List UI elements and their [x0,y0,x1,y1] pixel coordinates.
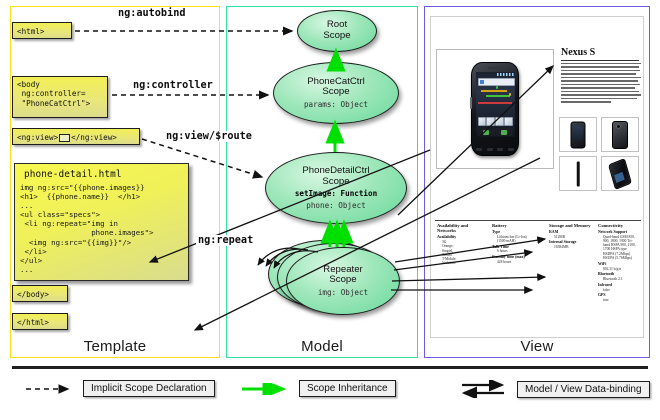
phone-side-button [470,97,472,109]
scope-phonedetailctrl: PhoneDetailCtrlScope setImage: Function … [265,152,407,224]
edge-label-controller: ng:controller [131,80,215,91]
spec-header: Battery [492,223,544,228]
spec-value: (1500 mAH) [492,239,544,243]
legend-label-databinding: Model / View Data-binding [517,381,650,398]
thumbnail-phone-front[interactable] [559,117,597,152]
spec-value: Bluetooth 2.1 [598,277,642,281]
spec-value: 16384MB [549,245,595,249]
ngview-open-tag: <ng:view> [17,133,58,142]
spec-value: 802.11 b/g/n [598,267,642,271]
legend-dashed-arrow-icon [24,383,76,395]
thumbnail-phone-back[interactable] [601,117,639,152]
legend-label-implicit: Implicit Scope Declaration [83,380,215,397]
scope-phonecatctrl: PhoneCatCtrlScope params: Object [273,62,399,124]
scope-repeater-label: RepeaterScope [323,265,362,287]
scope-root-label: RootScope [323,20,350,42]
column-label-model: Model [226,338,418,355]
rendered-view-page: Nexus S Availability and Networks Availa… [430,16,644,338]
edge-label-autobind: ng:autobind [116,8,187,19]
phone-dock-tray [478,128,513,136]
phone-search-widget [478,78,515,86]
phone-hardware-keys [476,148,514,152]
legend-item-implicit: Implicit Scope Declaration [24,380,215,397]
spec-value: 6 hours [492,249,544,253]
view-thumbnail-grid [559,117,641,193]
phone-device-image [471,62,519,156]
legend-divider [12,366,648,369]
note-code: img ng:src="{{phone.images}} <h1> {{phon… [20,183,183,274]
phone-graphic-line-1 [481,90,507,92]
edge-label-repeat: ng:repeat [196,235,255,246]
phone-status-bar [497,73,514,76]
scope-repeater: RepeaterScope img: Object [286,247,400,315]
spec-group-battery: Battery Type Lithium Ion (Li-Ion) (1500 … [492,223,544,264]
legend-double-arrow-icon [458,380,510,398]
code-box-html-close: </html> [12,313,68,330]
sticky-note-phone-detail: phone-detail.html img ng:src="{{phone.im… [14,163,189,281]
spec-group-availability: Availability and Networks Availability 3… [437,223,487,266]
legend-green-arrow-icon [240,383,292,395]
view-title-rule [561,60,639,61]
spec-value: false [598,288,642,292]
scope-phonecatctrl-prop: params: Object [304,100,368,109]
spec-value: 428 hours [492,260,544,264]
scope-phonedetailctrl-prop-phone: phone: Object [306,201,365,210]
spec-value: 512MB [549,235,595,239]
phone-graphic-line-2 [486,95,510,97]
note-title: phone-detail.html [24,169,183,180]
phone-graphic-line-3 [478,102,512,104]
legend-item-inheritance: Scope Inheritance [240,380,396,397]
column-label-template: Template [10,338,220,355]
column-label-view: View [424,338,650,355]
phone-dot-1 [496,86,499,89]
legend-label-inheritance: Scope Inheritance [299,380,396,397]
diagram-canvas: <html> <body ng:controller= "PhoneCatCtr… [0,0,660,420]
edge-label-route: ng:view/$route [164,131,254,142]
spec-group-connectivity: Connectivity Network Support Quad-band G… [598,223,642,302]
spec-header: Availability and Networks [437,223,487,234]
legend-item-databinding: Model / View Data-binding [458,380,650,398]
phone-speaker [488,67,502,69]
thumbnail-phone-edge[interactable] [559,156,597,191]
ngview-slot-icon [59,134,70,142]
view-spec-table: Availability and Networks Availability 3… [435,223,641,305]
ngview-close-tag: </ng:view> [71,133,117,142]
phone-dot-2 [509,93,512,96]
code-box-body-open: <body ng:controller= "PhoneCatCtrl"> [12,76,108,118]
scope-phonedetailctrl-label: PhoneDetailCtrlScope [302,166,369,188]
code-box-body-close: </body> [12,285,68,302]
legend: Implicit Scope Declaration Scope Inherit… [8,362,652,414]
scope-phonecatctrl-label: PhoneCatCtrlScope [307,77,365,99]
view-description-paragraph [561,63,641,111]
thumbnail-phone-angle[interactable] [601,156,639,191]
view-phone-title: Nexus S [561,47,595,58]
spec-header: Connectivity [598,223,642,228]
code-box-html-open: <html> [12,22,72,39]
phone-screen [476,72,515,137]
phone-app-icons [478,117,513,126]
scope-root: RootScope [297,10,377,52]
code-box-ngview: <ng:view></ng:view> [12,128,140,145]
scope-phonedetailctrl-prop-setimage: setImage: Function [295,189,377,198]
spec-value: HSUPA (5.76Mbps) [598,256,642,260]
spec-header: Storage and Memory [549,223,595,228]
spec-group-storage: Storage and Memory RAM 512MB Internal St… [549,223,595,249]
phone-hero-frame [436,49,554,169]
spec-table-rule [435,220,641,221]
spec-value: Vodafone [437,261,487,265]
spec-value: true [598,298,642,302]
scope-repeater-prop: img: Object [318,288,368,297]
